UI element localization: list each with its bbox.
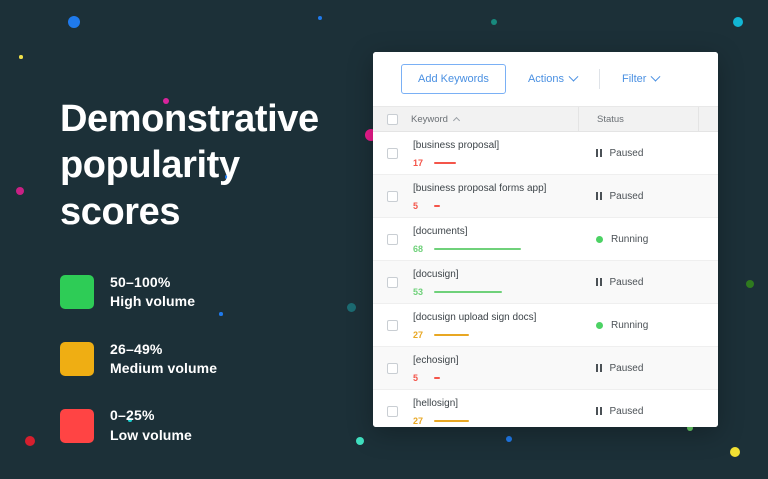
legend-text: 0–25%Low volume <box>110 406 192 445</box>
popularity-score: 27 <box>413 330 578 340</box>
popularity-score-bar <box>434 162 456 164</box>
legend-text: 26–49%Medium volume <box>110 340 217 379</box>
chevron-down-icon <box>651 71 661 81</box>
row-select-cell <box>373 406 411 417</box>
column-header-status-label: Status <box>597 114 624 125</box>
row-select-cell <box>373 148 411 159</box>
status-label: Paused <box>610 191 644 202</box>
keyword-cell: [business proposal forms app]5 <box>411 182 578 211</box>
table-header-row: Keyword Status <box>373 106 718 132</box>
table-row[interactable]: [echosign]5Paused <box>373 347 718 390</box>
column-header-extra <box>698 107 718 131</box>
table-row[interactable]: [docusign]53Paused <box>373 261 718 304</box>
row-checkbox[interactable] <box>387 148 398 159</box>
decorative-dot <box>16 187 24 195</box>
legend-range: 26–49% <box>110 340 217 359</box>
popularity-score-value: 27 <box>413 416 429 426</box>
card-toolbar: Add Keywords Actions Filter <box>373 52 718 106</box>
keyword-text: [business proposal] <box>413 139 578 153</box>
status-cell: Paused <box>578 277 698 288</box>
legend-color-swatch <box>60 342 94 376</box>
status-label: Paused <box>610 148 644 159</box>
row-select-cell <box>373 277 411 288</box>
popularity-score-bar <box>434 205 440 207</box>
legend-range: 50–100% <box>110 273 195 292</box>
popularity-score: 5 <box>413 373 578 383</box>
decorative-dot <box>506 436 512 442</box>
row-select-cell <box>373 191 411 202</box>
keyword-text: [echosign] <box>413 354 578 368</box>
legend-item: 0–25%Low volume <box>60 406 360 445</box>
legend: 50–100%High volume26–49%Medium volume0–2… <box>60 273 360 445</box>
column-header-keyword[interactable]: Keyword <box>411 114 578 125</box>
legend-label: High volume <box>110 292 195 311</box>
popularity-score-value: 53 <box>413 287 429 297</box>
legend-range: 0–25% <box>110 406 192 425</box>
keyword-text: [docusign] <box>413 268 578 282</box>
row-checkbox[interactable] <box>387 191 398 202</box>
decorative-dot <box>733 17 743 27</box>
popularity-score-bar <box>434 248 521 250</box>
status-cell: Paused <box>578 148 698 159</box>
row-select-cell <box>373 320 411 331</box>
running-dot-icon <box>596 322 603 329</box>
popularity-score-value: 5 <box>413 201 429 211</box>
pause-icon <box>596 192 602 200</box>
popularity-score-value: 17 <box>413 158 429 168</box>
keywords-app-card: Add Keywords Actions Filter Keyword Stat… <box>373 52 718 427</box>
keyword-cell: [business proposal]17 <box>411 139 578 168</box>
sort-ascending-icon <box>453 116 460 123</box>
left-panel: Demonstrative popularity scores 50–100%H… <box>60 96 360 473</box>
legend-color-swatch <box>60 275 94 309</box>
table-row[interactable]: [documents]68Running <box>373 218 718 261</box>
row-checkbox[interactable] <box>387 363 398 374</box>
keyword-text: [documents] <box>413 225 578 239</box>
keyword-cell: [echosign]5 <box>411 354 578 383</box>
table-row[interactable]: [docusign upload sign docs]27Running <box>373 304 718 347</box>
popularity-score: 27 <box>413 416 578 426</box>
keyword-cell: [documents]68 <box>411 225 578 254</box>
legend-text: 50–100%High volume <box>110 273 195 312</box>
status-cell: Running <box>578 234 698 245</box>
filter-dropdown[interactable]: Filter <box>600 73 659 85</box>
pause-icon <box>596 407 602 415</box>
column-header-status[interactable]: Status <box>578 107 698 131</box>
decorative-dot <box>746 280 754 288</box>
popularity-score-bar <box>434 291 502 293</box>
popularity-score-value: 27 <box>413 330 429 340</box>
status-label: Paused <box>610 406 644 417</box>
status-cell: Running <box>578 320 698 331</box>
filter-label: Filter <box>622 73 646 85</box>
row-checkbox[interactable] <box>387 320 398 331</box>
decorative-dot <box>491 19 497 25</box>
legend-color-swatch <box>60 409 94 443</box>
status-label: Running <box>611 234 648 245</box>
status-cell: Paused <box>578 406 698 417</box>
keyword-cell: [hellosign]27 <box>411 397 578 426</box>
popularity-score-bar <box>434 377 440 379</box>
actions-label: Actions <box>528 73 564 85</box>
legend-item: 50–100%High volume <box>60 273 360 312</box>
select-all-checkbox[interactable] <box>387 114 398 125</box>
table-row[interactable]: [business proposal]17Paused <box>373 132 718 175</box>
add-keywords-button[interactable]: Add Keywords <box>401 64 506 94</box>
decorative-dot <box>68 16 80 28</box>
popularity-score-bar <box>434 420 469 422</box>
row-checkbox[interactable] <box>387 234 398 245</box>
table-row[interactable]: [business proposal forms app]5Paused <box>373 175 718 218</box>
row-select-cell <box>373 363 411 374</box>
keyword-text: [hellosign] <box>413 397 578 411</box>
popularity-score-bar <box>434 334 469 336</box>
row-select-cell <box>373 234 411 245</box>
keyword-text: [business proposal forms app] <box>413 182 578 196</box>
status-cell: Paused <box>578 363 698 374</box>
legend-item: 26–49%Medium volume <box>60 340 360 379</box>
table-row[interactable]: [hellosign]27Paused <box>373 390 718 427</box>
popularity-score: 53 <box>413 287 578 297</box>
keyword-text: [docusign upload sign docs] <box>413 311 578 325</box>
status-cell: Paused <box>578 191 698 202</box>
chevron-down-icon <box>569 71 579 81</box>
row-checkbox[interactable] <box>387 277 398 288</box>
legend-label: Medium volume <box>110 359 217 378</box>
status-label: Paused <box>610 363 644 374</box>
legend-label: Low volume <box>110 426 192 445</box>
status-label: Paused <box>610 277 644 288</box>
pause-icon <box>596 278 602 286</box>
row-checkbox[interactable] <box>387 406 398 417</box>
status-label: Running <box>611 320 648 331</box>
select-all-cell <box>373 114 411 125</box>
decorative-dot <box>19 55 23 59</box>
popularity-score-value: 5 <box>413 373 429 383</box>
popularity-score: 5 <box>413 201 578 211</box>
page-title: Demonstrative popularity scores <box>60 96 360 235</box>
pause-icon <box>596 364 602 372</box>
column-header-keyword-label: Keyword <box>411 114 448 125</box>
decorative-dot <box>730 447 740 457</box>
running-dot-icon <box>596 236 603 243</box>
decorative-dot <box>25 436 35 446</box>
popularity-score: 68 <box>413 244 578 254</box>
decorative-dot <box>318 16 322 20</box>
actions-dropdown[interactable]: Actions <box>528 73 577 85</box>
keyword-cell: [docusign]53 <box>411 268 578 297</box>
pause-icon <box>596 149 602 157</box>
keyword-cell: [docusign upload sign docs]27 <box>411 311 578 340</box>
table-body: [business proposal]17Paused[business pro… <box>373 132 718 427</box>
popularity-score: 17 <box>413 158 578 168</box>
popularity-score-value: 68 <box>413 244 429 254</box>
